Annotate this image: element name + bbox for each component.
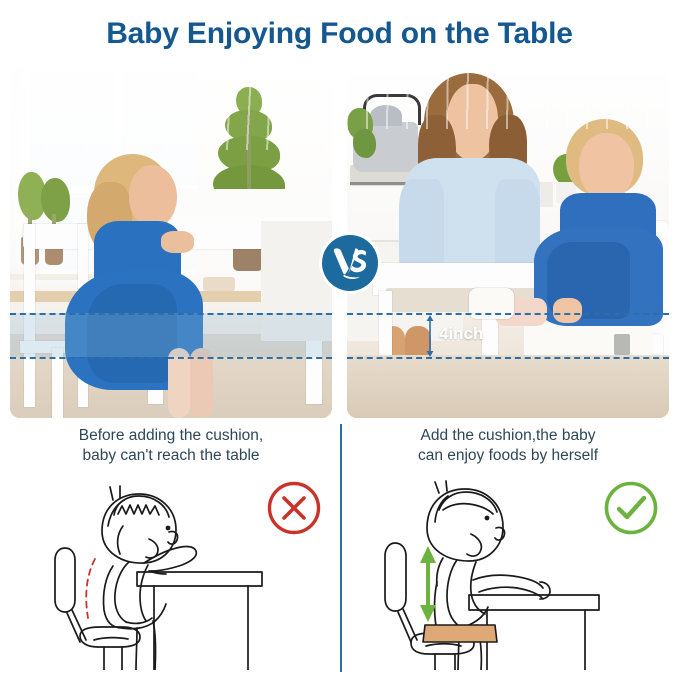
vertical-divider [340, 424, 342, 672]
height-arrow-icon [420, 546, 436, 622]
caption-before: Before adding the cushion, baby can't re… [10, 426, 332, 466]
measurement-label: 4inch [439, 324, 483, 344]
illustration-after [347, 470, 669, 670]
measure-line-top [10, 313, 332, 315]
measure-line-top [347, 313, 669, 315]
vs-badge [322, 235, 378, 291]
photo-after: 4inch [347, 66, 669, 418]
measure-line-bottom [10, 357, 332, 359]
product-comparison-page: Baby Enjoying Food on the Table [0, 0, 679, 679]
caption-after: Add the cushion,the baby can enjoy foods… [347, 426, 669, 466]
page-title: Baby Enjoying Food on the Table [0, 17, 679, 51]
cross-circle-icon [265, 479, 323, 537]
measure-lines-after: 4inch [347, 66, 669, 418]
photo-before [10, 66, 332, 418]
height-arrow-icon [425, 315, 435, 357]
check-circle-icon [602, 479, 660, 537]
measure-line-bottom [347, 357, 669, 359]
spine-curve [86, 559, 95, 618]
measure-lines-before [10, 66, 332, 418]
illustration-before [10, 470, 332, 670]
cushion-shape [423, 625, 497, 642]
